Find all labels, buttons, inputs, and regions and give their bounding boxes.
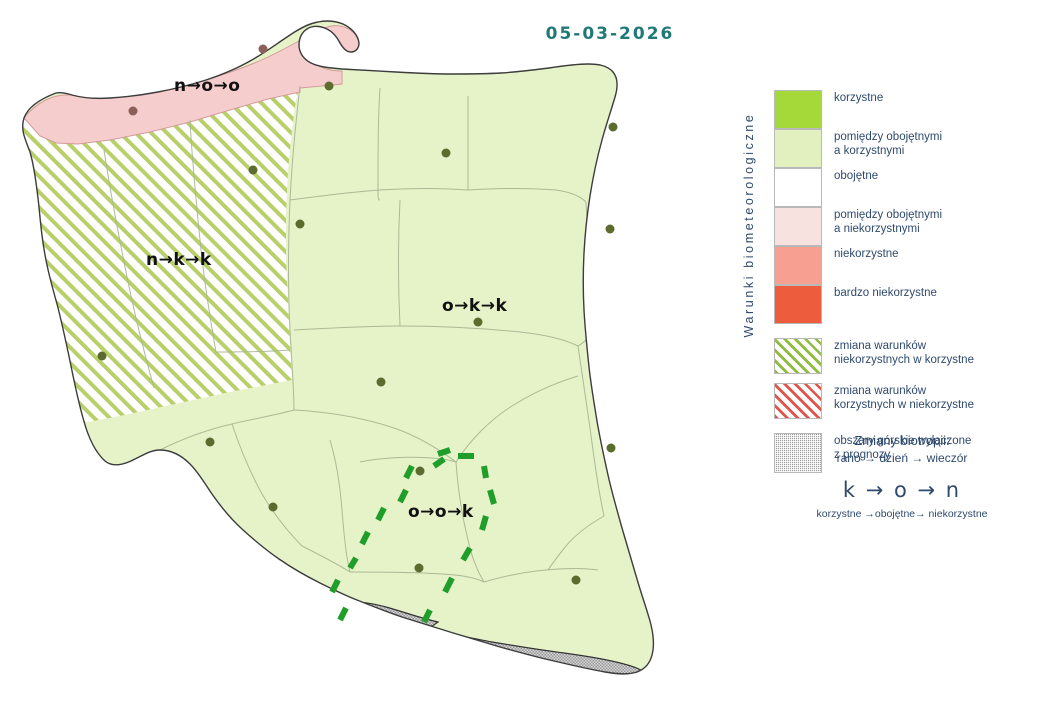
station-dot [296,220,305,229]
legend-item-pomiedzy-obojetnymi-a-niekorzystnymi[interactable]: pomiędzy obojętnymi a niekorzystnymi [774,207,1060,246]
station-dot [129,107,138,116]
legend-label-line: niekorzystnych w korzystne [834,354,974,368]
legend-gap [774,324,1060,338]
legend-label-line: zmiana warunków [834,340,974,354]
legend-label-line: a korzystnymi [834,145,942,159]
legend-swatch-pomiedzy-obojetnymi-a-niekorzystnymi [774,207,822,246]
map-label-o-k-k: o→k→k [442,296,507,316]
legend-title-rotated: Warunki biometeorologiczne [732,0,752,80]
biotropy-key: Zmiany biotropii: rano → dzień → wieczór… [752,432,1052,522]
biotropy-example: k → o → n [752,475,1052,505]
biotropy-title: Zmiany biotropii: [752,432,1052,449]
station-dot [98,352,107,361]
biometeorological-map-page: 05-03-2026 [0,0,1060,720]
station-dot [609,123,618,132]
station-dot [377,378,386,387]
legend-label-obojetne: obojętne [834,168,878,184]
station-dot [474,318,483,327]
legend-rows: korzystne pomiędzy obojętnymi a korzystn… [774,90,1060,473]
legend-label-line: niekorzystne [834,248,899,262]
legend-label-pomiedzy-obojetnymi-a-korzystnymi: pomiędzy obojętnymi a korzystnymi [834,129,942,158]
legend-label-korzystne: korzystne [834,90,883,106]
biotropy-footer: korzystne →obojętne→ niekorzystne [752,507,1052,522]
legend-gap [774,419,1060,433]
legend-label-line: obojętne [834,170,878,184]
station-dot [442,149,451,158]
legend-item-zmiana-niekorzystnych-w-korzystne[interactable]: zmiana warunków niekorzystnych w korzyst… [774,338,1060,374]
legend-label-line: pomiędzy obojętnymi [834,131,942,145]
station-dot [249,166,258,175]
station-dot [206,438,215,447]
station-dot [572,576,581,585]
legend-label-line: korzystnych w niekorzystne [834,399,974,413]
legend-item-pomiedzy-obojetnymi-a-korzystnymi[interactable]: pomiędzy obojętnymi a korzystnymi [774,129,1060,168]
legend-title-text: Warunki biometeorologiczne [742,80,756,370]
station-dot [416,467,425,476]
station-dot [607,444,616,453]
legend-label-pomiedzy-obojetnymi-a-niekorzystnymi: pomiędzy obojętnymi a niekorzystnymi [834,207,942,236]
legend-item-obojetne[interactable]: obojętne [774,168,1060,207]
legend-label-line: a niekorzystnymi [834,223,942,237]
station-dot [269,503,278,512]
legend-swatch-pomiedzy-obojetnymi-a-korzystnymi [774,129,822,168]
legend-label-zmiana-korzystnych-w-niekorzystne: zmiana warunków korzystnych w niekorzyst… [834,383,974,412]
station-dot [259,45,268,54]
legend-swatch-obojetne [774,168,822,207]
legend-item-korzystne[interactable]: korzystne [774,90,1060,129]
legend-label-line: pomiędzy obojętnymi [834,209,942,223]
station-dot [606,225,615,234]
biotropy-subtitle: rano → dzień → wieczór [752,450,1052,467]
legend-label-zmiana-niekorzystnych-w-korzystne: zmiana warunków niekorzystnych w korzyst… [834,338,974,367]
legend-gap [774,374,1060,383]
region-obszary-gorskie-sudety-west [43,459,64,484]
map-label-o-o-k: o→o→k [408,502,474,522]
station-dot [415,564,424,573]
legend-swatch-bardzo-niekorzystne [774,285,822,324]
legend-swatch-zmiana-korzystnych-w-niekorzystne [774,383,822,419]
poland-map-svg[interactable] [0,0,740,720]
legend-label-bardzo-niekorzystne: bardzo niekorzystne [834,285,937,301]
legend-item-zmiana-korzystnych-w-niekorzystne[interactable]: zmiana warunków korzystnych w niekorzyst… [774,383,1060,419]
poland-map[interactable]: n→o→o n→k→k o→k→k o→o→k [0,0,740,720]
legend-item-bardzo-niekorzystne[interactable]: bardzo niekorzystne [774,285,1060,324]
map-label-n-k-k: n→k→k [146,250,212,270]
legend-swatch-niekorzystne [774,246,822,285]
station-dot [325,82,334,91]
legend-swatch-zmiana-niekorzystnych-w-korzystne [774,338,822,374]
legend-label-niekorzystne: niekorzystne [834,246,899,262]
map-base-layer [0,0,740,720]
legend-label-line: korzystne [834,92,883,106]
legend-swatch-korzystne [774,90,822,129]
legend-item-niekorzystne[interactable]: niekorzystne [774,246,1060,285]
legend-label-line: zmiana warunków [834,385,974,399]
legend-label-line: bardzo niekorzystne [834,287,937,301]
map-label-n-o-o: n→o→o [174,76,240,96]
